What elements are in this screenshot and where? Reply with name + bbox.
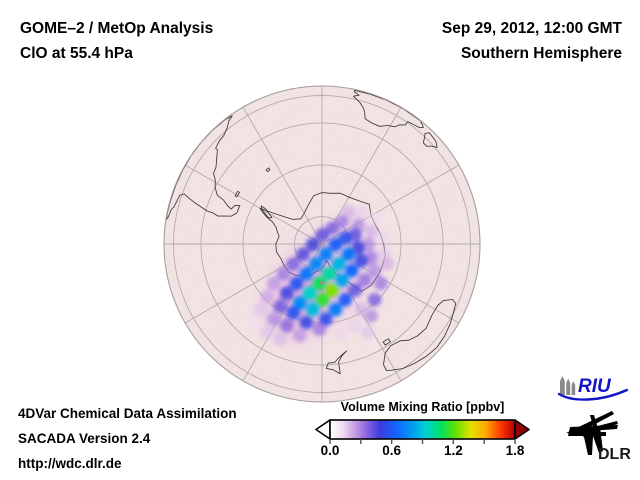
orthographic-projection-svg xyxy=(160,82,485,407)
colorbar-tick-label: 1.2 xyxy=(444,443,463,458)
region-label: Southern Hemisphere xyxy=(442,41,622,66)
dlr-logo: DLR xyxy=(560,405,634,463)
header-right: Sep 29, 2012, 12:00 GMT Southern Hemisph… xyxy=(442,16,622,66)
colorbar: Volume Mixing Ratio [ppbv] 0.00.61.21.8 xyxy=(305,400,540,472)
screenshot-root: GOME–2 / MetOp Analysis ClO at 55.4 hPa … xyxy=(0,0,640,480)
instrument-title: GOME–2 / MetOp Analysis xyxy=(20,16,213,41)
dlr-wordmark: DLR xyxy=(598,446,631,463)
riu-logo: RIU xyxy=(556,372,630,402)
species-subtitle: ClO at 55.4 hPa xyxy=(20,41,213,66)
method-label: 4DVar Chemical Data Assimilation xyxy=(18,401,237,426)
wdc-url-label: http://wdc.dlr.de xyxy=(18,451,237,476)
colorbar-low-extend-arrow xyxy=(316,420,330,439)
colorbar-high-extend-arrow xyxy=(515,420,529,439)
datetime-label: Sep 29, 2012, 12:00 GMT xyxy=(442,16,622,41)
colorbar-title: Volume Mixing Ratio [ppbv] xyxy=(305,400,540,414)
globe-map xyxy=(160,82,485,407)
version-label: SACADA Version 2.4 xyxy=(18,426,237,451)
riu-skyline-icon xyxy=(560,376,575,395)
riu-wordmark: RIU xyxy=(578,376,612,397)
south-pole-marker xyxy=(320,281,324,285)
colorbar-gradient-bar xyxy=(330,420,515,439)
colorbar-tick-label: 0.6 xyxy=(382,443,401,458)
footer-left: 4DVar Chemical Data Assimilation SACADA … xyxy=(18,401,237,476)
header-left: GOME–2 / MetOp Analysis ClO at 55.4 hPa xyxy=(20,16,213,66)
colorbar-tick-label: 1.8 xyxy=(506,443,525,458)
colorbar-tick-label: 0.0 xyxy=(321,443,340,458)
